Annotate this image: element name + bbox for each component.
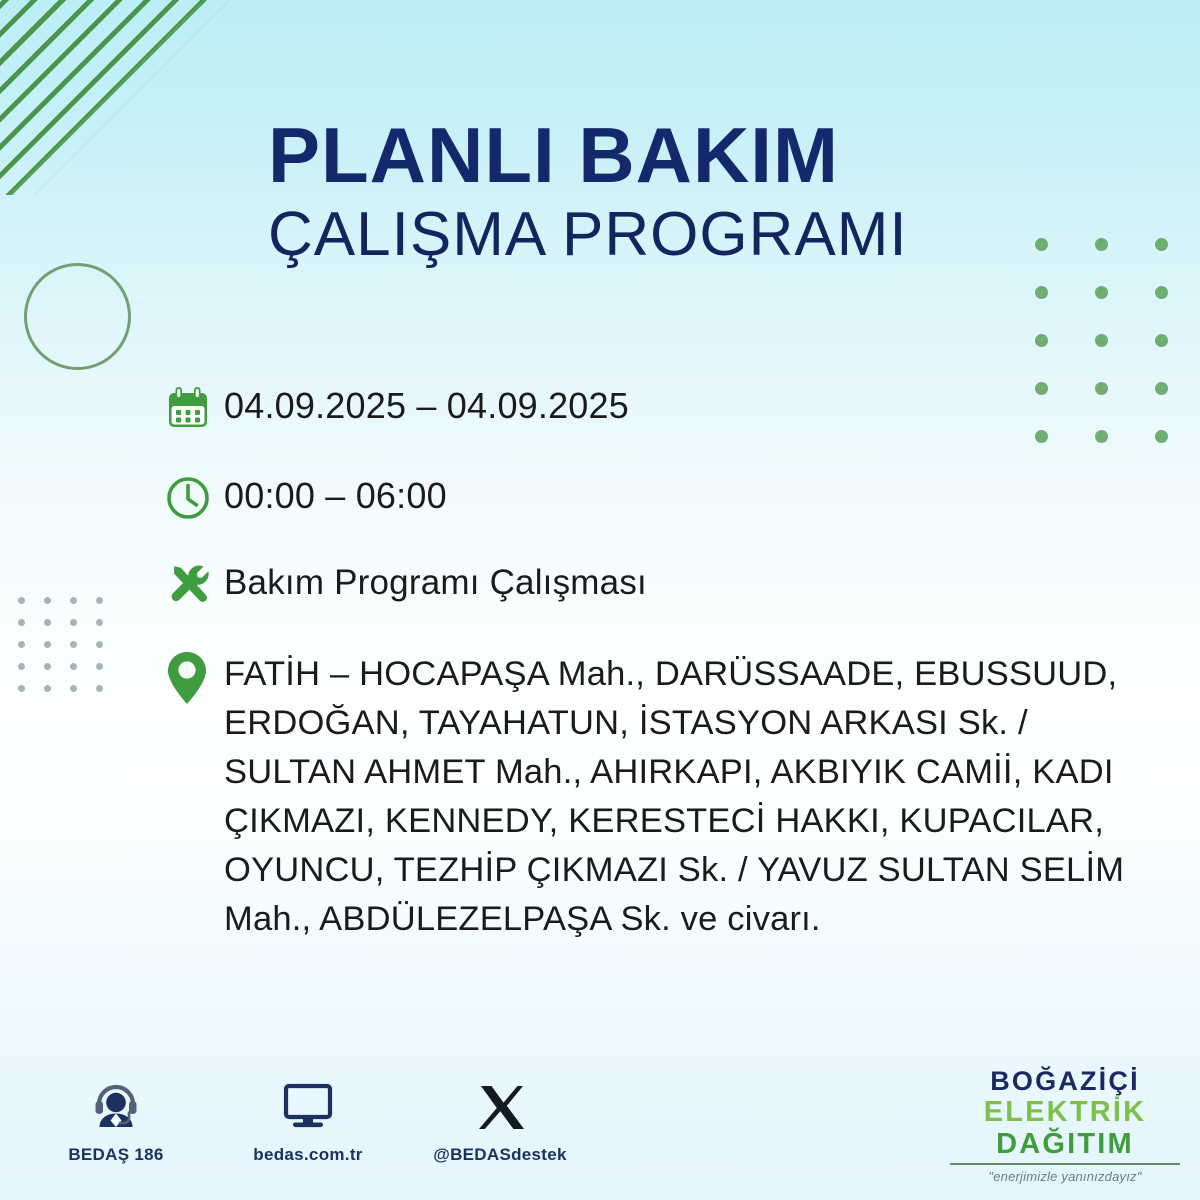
dot: [18, 597, 25, 604]
contact-website[interactable]: bedas.com.tr: [238, 1073, 378, 1165]
dot: [1155, 430, 1168, 443]
contact-social-x[interactable]: @BEDASdestek: [430, 1073, 570, 1165]
dot: [70, 663, 77, 670]
dot: [1035, 334, 1048, 347]
tools-icon: [162, 556, 224, 616]
dot: [1095, 334, 1108, 347]
contact-label: bedas.com.tr: [238, 1145, 378, 1165]
dot: [44, 685, 51, 692]
dot: [18, 663, 25, 670]
dot: [96, 597, 103, 604]
dot: [1095, 238, 1108, 251]
info-row-time: 00:00 – 06:00: [162, 468, 1142, 528]
time-range-value: 00:00 – 06:00: [224, 468, 1142, 520]
dot: [96, 641, 103, 648]
clock-icon: [162, 468, 224, 528]
dot: [44, 663, 51, 670]
monitor-icon: [238, 1073, 378, 1135]
dot: [96, 663, 103, 670]
logo-line-dagitim: DAĞITIM: [950, 1130, 1180, 1165]
dot: [1155, 334, 1168, 347]
title-line-secondary: ÇALIŞMA PROGRAMI: [268, 198, 968, 272]
location-pin-icon: [162, 646, 224, 708]
dot: [18, 641, 25, 648]
contact-label: BEDAŞ 186: [46, 1145, 186, 1165]
work-type-value: Bakım Programı Çalışması: [224, 556, 1142, 606]
dot-grid-decoration-left: [18, 597, 122, 707]
logo-line-elektrik: ELEKTRİK: [950, 1098, 1180, 1127]
info-row-location: FATİH – HOCAPAŞA Mah., DARÜSSAADE, EBUSS…: [162, 646, 1142, 944]
page-title: PLANLI BAKIM ÇALIŞMA PROGRAMI: [268, 118, 968, 272]
dot: [1155, 286, 1168, 299]
info-row-work-type: Bakım Programı Çalışması: [162, 556, 1142, 616]
dot: [96, 685, 103, 692]
title-line-primary: PLANLI BAKIM: [268, 118, 968, 192]
logo-line-bogazici: BOĞAZİÇİ: [950, 1068, 1180, 1095]
dot: [18, 685, 25, 692]
diagonal-hatch-decoration: [0, 0, 267, 195]
logo-tagline: "enerjimizle yanınızdayız": [950, 1170, 1180, 1183]
dot: [1035, 286, 1048, 299]
dot: [44, 619, 51, 626]
dot: [1155, 238, 1168, 251]
footer-contacts: BEDAŞ 186 bedas.com.tr @BEDASdestek: [46, 1073, 570, 1165]
dot: [44, 641, 51, 648]
info-row-date: 04.09.2025 – 04.09.2025: [162, 378, 1142, 438]
dot: [96, 619, 103, 626]
dot: [1035, 238, 1048, 251]
info-rows: 04.09.2025 – 04.09.2025 00:00 – 06:00: [162, 378, 1142, 944]
dot: [44, 597, 51, 604]
contact-label: @BEDASdestek: [430, 1145, 570, 1165]
affected-areas-value: FATİH – HOCAPAŞA Mah., DARÜSSAADE, EBUSS…: [224, 646, 1142, 944]
dot: [1095, 286, 1108, 299]
headset-operator-icon: [46, 1073, 186, 1135]
circle-outline-decoration: [24, 263, 131, 370]
date-range-value: 04.09.2025 – 04.09.2025: [224, 378, 1142, 430]
dot: [18, 619, 25, 626]
contact-call-center[interactable]: BEDAŞ 186: [46, 1073, 186, 1165]
bedas-logo: BOĞAZİÇİ ELEKTRİK DAĞITIM "enerjimizle y…: [950, 1068, 1180, 1183]
calendar-icon: [162, 378, 224, 438]
dot: [70, 619, 77, 626]
dot: [1155, 382, 1168, 395]
x-twitter-icon: [430, 1073, 570, 1135]
dot: [70, 641, 77, 648]
planned-maintenance-poster: PLANLI BAKIM ÇALIŞMA PROGRAMI: [0, 0, 1200, 1200]
dot: [70, 685, 77, 692]
dot: [70, 597, 77, 604]
